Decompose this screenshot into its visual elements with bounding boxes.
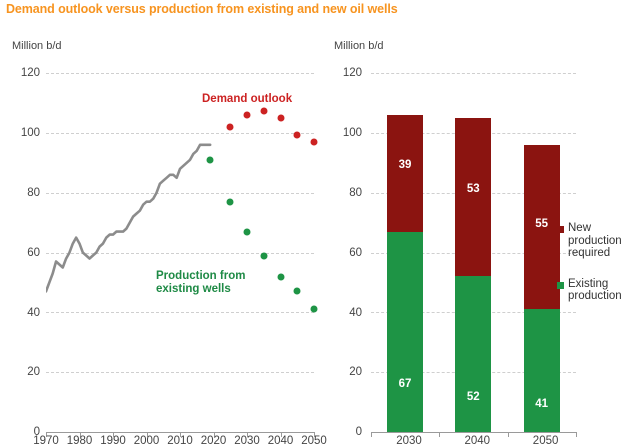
bar-2030-existing-value: 67 [387, 378, 423, 390]
left-plot-area: Demand outlook Production from existing … [46, 73, 314, 432]
right-xtick-2040: 2040 [447, 435, 507, 447]
legend-item-new-production[interactable]: New production required [557, 222, 629, 260]
right-xtickmark-2 [508, 432, 509, 437]
demand-dot-2035 [260, 107, 267, 114]
bar-2050[interactable]: 55 41 [524, 145, 560, 432]
left-ytick-120: 120 [6, 67, 40, 79]
right-ytick-80: 80 [328, 187, 362, 199]
left-ytick-100: 100 [6, 127, 40, 139]
right-xtick-2030: 2030 [379, 435, 439, 447]
bar-2040-new-segment[interactable]: 53 [455, 118, 491, 277]
right-ytick-20: 20 [328, 366, 362, 378]
demand-dot-2030 [244, 112, 251, 119]
right-axis-unit-label: Million b/d [334, 40, 384, 52]
demand-dot-2045 [294, 131, 301, 138]
right-xtickmark-start [371, 432, 372, 437]
left-ytick-40: 40 [6, 307, 40, 319]
right-ytick-100: 100 [328, 127, 362, 139]
legend-label-existing-production: Existing production [568, 278, 629, 303]
legend-item-existing-production[interactable]: Existing production [557, 278, 629, 303]
right-xtickmark-end [576, 432, 577, 437]
left-axis-unit-label: Million b/d [12, 40, 62, 52]
legend: New production required Existing product… [557, 222, 629, 321]
right-gridline-120 [371, 73, 576, 74]
left-chart-panel: Million b/d 0 20 40 60 80 100 120 [0, 0, 330, 447]
bar-2050-existing-segment[interactable]: 41 [524, 309, 560, 432]
demand-dot-2025 [227, 124, 234, 131]
historical-demand-line [46, 73, 314, 432]
left-ytick-60: 60 [6, 247, 40, 259]
bar-2040-existing-segment[interactable]: 52 [455, 276, 491, 432]
legend-swatch-new-production-icon [557, 226, 564, 233]
legend-swatch-existing-production-icon [557, 282, 564, 289]
production-label: Production from existing wells [156, 270, 245, 296]
existing-dot-2035 [260, 252, 267, 259]
bar-2050-existing-value: 41 [524, 398, 560, 410]
right-ytick-60: 60 [328, 247, 362, 259]
existing-dot-2050 [311, 306, 318, 313]
bar-2050-new-segment[interactable]: 55 [524, 145, 560, 310]
right-plot-area: 39 67 53 52 55 41 [371, 73, 576, 432]
right-x-axis [371, 432, 576, 433]
bar-2030-existing-segment[interactable]: 67 [387, 232, 423, 432]
legend-label-new-production: New production required [568, 222, 629, 260]
left-ytick-20: 20 [6, 366, 40, 378]
demand-dot-2050 [311, 139, 318, 146]
bar-2050-new-value: 55 [524, 218, 560, 230]
production-label-line1: Production from [156, 270, 245, 282]
bar-2040[interactable]: 53 52 [455, 118, 491, 432]
production-label-line2: existing wells [156, 283, 231, 295]
existing-dot-2045 [294, 288, 301, 295]
left-ytick-80: 80 [6, 187, 40, 199]
right-xtick-2050: 2050 [516, 435, 576, 447]
bar-2040-existing-value: 52 [455, 391, 491, 403]
existing-dot-2030 [244, 228, 251, 235]
existing-dot-2040 [277, 273, 284, 280]
bar-2030-new-value: 39 [387, 159, 423, 171]
bar-2030[interactable]: 39 67 [387, 115, 423, 432]
right-ytick-40: 40 [328, 307, 362, 319]
demand-dot-2040 [277, 115, 284, 122]
demand-outlook-label: Demand outlook [202, 93, 292, 106]
existing-dot-2019 [207, 156, 214, 163]
bar-2030-new-segment[interactable]: 39 [387, 115, 423, 232]
right-ytick-0: 0 [328, 426, 362, 438]
right-xtickmark-1 [439, 432, 440, 437]
existing-dot-2025 [227, 198, 234, 205]
right-ytick-120: 120 [328, 67, 362, 79]
bar-2040-new-value: 53 [455, 183, 491, 195]
